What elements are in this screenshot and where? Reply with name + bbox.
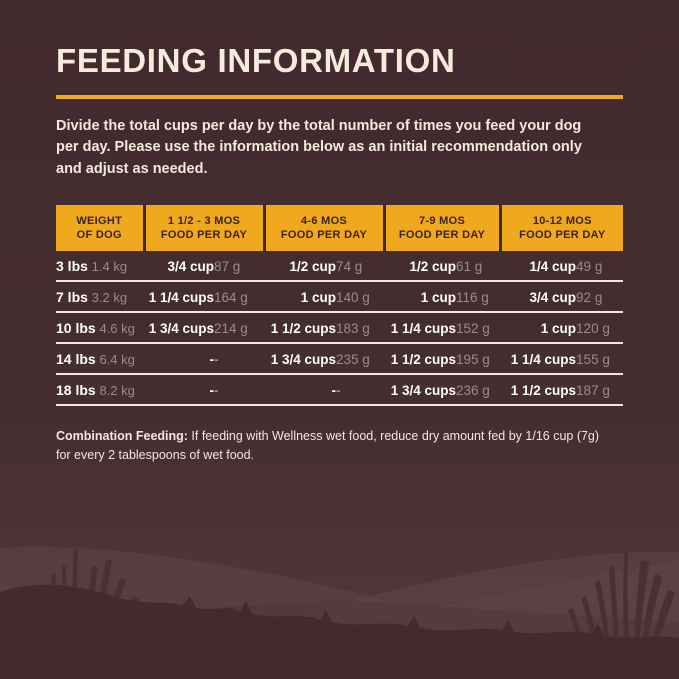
- table-row: 18 lbs 8.2 kg - - - - 1 3/4 cups 236 g 1…: [56, 374, 623, 405]
- cell-cups-4: 1 1/4 cups: [500, 343, 576, 374]
- cell-cups-2: -: [264, 374, 336, 405]
- cell-grams-4: 155 g: [576, 343, 623, 374]
- header-cell-4-6-mos: 4-6 MOS FOOD PER DAY: [264, 205, 384, 252]
- header-cell-1-5-3-mos: 1 1/2 - 3 MOS FOOD PER DAY: [144, 205, 264, 252]
- header-line-2: FOOD PER DAY: [504, 228, 622, 242]
- table-row: 10 lbs 4.6 kg 1 3/4 cups 214 g 1 1/2 cup…: [56, 312, 623, 343]
- table-header-row: WEIGHT OF DOG 1 1/2 - 3 MOS FOOD PER DAY…: [56, 205, 623, 252]
- feeding-table: WEIGHT OF DOG 1 1/2 - 3 MOS FOOD PER DAY…: [56, 205, 623, 407]
- footnote-label: Combination Feeding:: [56, 429, 188, 443]
- cell-cups-1: 1 1/4 cups: [144, 281, 214, 312]
- weight-kg: 4.6 kg: [99, 321, 134, 336]
- cell-cups-1: -: [144, 374, 214, 405]
- cell-cups-3: 1/2 cup: [384, 251, 456, 281]
- weight-lbs: 7 lbs: [56, 289, 88, 305]
- cell-grams-2: -: [336, 374, 384, 405]
- table-row: 14 lbs 6.4 kg - - 1 3/4 cups 235 g 1 1/2…: [56, 343, 623, 374]
- header-line-1: 7-9 MOS: [388, 214, 497, 228]
- cell-grams-2: 140 g: [336, 281, 384, 312]
- cell-grams-3: 236 g: [456, 374, 500, 405]
- cell-grams-1: -: [214, 343, 264, 374]
- cell-cups-3: 1 cup: [384, 281, 456, 312]
- cell-grams-4: 49 g: [576, 251, 623, 281]
- header-line-2: FOOD PER DAY: [388, 228, 497, 242]
- combination-feeding-note: Combination Feeding: If feeding with Wel…: [56, 427, 616, 463]
- header-cell-weight: WEIGHT OF DOG: [56, 205, 144, 252]
- cell-grams-2: 74 g: [336, 251, 384, 281]
- cell-cups-3: 1 1/2 cups: [384, 343, 456, 374]
- cell-grams-1: -: [214, 374, 264, 405]
- weight-kg: 1.4 kg: [92, 259, 127, 274]
- header-cell-10-12-mos: 10-12 MOS FOOD PER DAY: [500, 205, 623, 252]
- cell-weight: 18 lbs 8.2 kg: [56, 374, 144, 405]
- cell-grams-1: 164 g: [214, 281, 264, 312]
- header-line-1: 10-12 MOS: [504, 214, 622, 228]
- cell-weight: 10 lbs 4.6 kg: [56, 312, 144, 343]
- weight-lbs: 18 lbs: [56, 382, 96, 398]
- header-line-2: FOOD PER DAY: [268, 228, 381, 242]
- cell-cups-1: -: [144, 343, 214, 374]
- cell-grams-3: 195 g: [456, 343, 500, 374]
- cell-grams-1: 87 g: [214, 251, 264, 281]
- cell-grams-3: 116 g: [456, 281, 500, 312]
- weight-kg: 3.2 kg: [92, 290, 127, 305]
- weight-lbs: 3 lbs: [56, 258, 88, 274]
- cell-cups-2: 1 3/4 cups: [264, 343, 336, 374]
- weight-lbs: 14 lbs: [56, 351, 96, 367]
- cell-weight: 7 lbs 3.2 kg: [56, 281, 144, 312]
- cell-grams-4: 120 g: [576, 312, 623, 343]
- cell-cups-3: 1 3/4 cups: [384, 374, 456, 405]
- cell-grams-3: 61 g: [456, 251, 500, 281]
- cell-grams-3: 152 g: [456, 312, 500, 343]
- cell-weight: 14 lbs 6.4 kg: [56, 343, 144, 374]
- feeding-information-panel: FEEDING INFORMATION Divide the total cup…: [0, 0, 679, 679]
- header-line-2: OF DOG: [58, 228, 141, 242]
- cell-cups-2: 1 cup: [264, 281, 336, 312]
- cell-grams-1: 214 g: [214, 312, 264, 343]
- cell-grams-4: 92 g: [576, 281, 623, 312]
- cell-weight: 3 lbs 1.4 kg: [56, 251, 144, 281]
- cell-grams-4: 187 g: [576, 374, 623, 405]
- title-underline: [56, 95, 623, 99]
- header-line-2: FOOD PER DAY: [148, 228, 261, 242]
- intro-paragraph: Divide the total cups per day by the tot…: [56, 116, 596, 181]
- table-row: 7 lbs 3.2 kg 1 1/4 cups 164 g 1 cup 140 …: [56, 281, 623, 312]
- cell-cups-3: 1 1/4 cups: [384, 312, 456, 343]
- header-line-1: WEIGHT: [58, 214, 141, 228]
- header-line-1: 4-6 MOS: [268, 214, 381, 228]
- cell-cups-2: 1/2 cup: [264, 251, 336, 281]
- header-cell-7-9-mos: 7-9 MOS FOOD PER DAY: [384, 205, 500, 252]
- weight-lbs: 10 lbs: [56, 320, 96, 336]
- cell-grams-2: 183 g: [336, 312, 384, 343]
- weight-kg: 6.4 kg: [99, 352, 134, 367]
- cell-cups-4: 1 cup: [500, 312, 576, 343]
- cell-cups-4: 1/4 cup: [500, 251, 576, 281]
- page-title: FEEDING INFORMATION: [56, 44, 623, 79]
- cell-cups-2: 1 1/2 cups: [264, 312, 336, 343]
- cell-cups-4: 1 1/2 cups: [500, 374, 576, 405]
- cell-cups-4: 3/4 cup: [500, 281, 576, 312]
- cell-cups-1: 3/4 cup: [144, 251, 214, 281]
- header-line-1: 1 1/2 - 3 MOS: [148, 214, 261, 228]
- cell-cups-1: 1 3/4 cups: [144, 312, 214, 343]
- cell-grams-2: 235 g: [336, 343, 384, 374]
- table-row: 3 lbs 1.4 kg 3/4 cup 87 g 1/2 cup 74 g 1…: [56, 251, 623, 281]
- weight-kg: 8.2 kg: [99, 383, 134, 398]
